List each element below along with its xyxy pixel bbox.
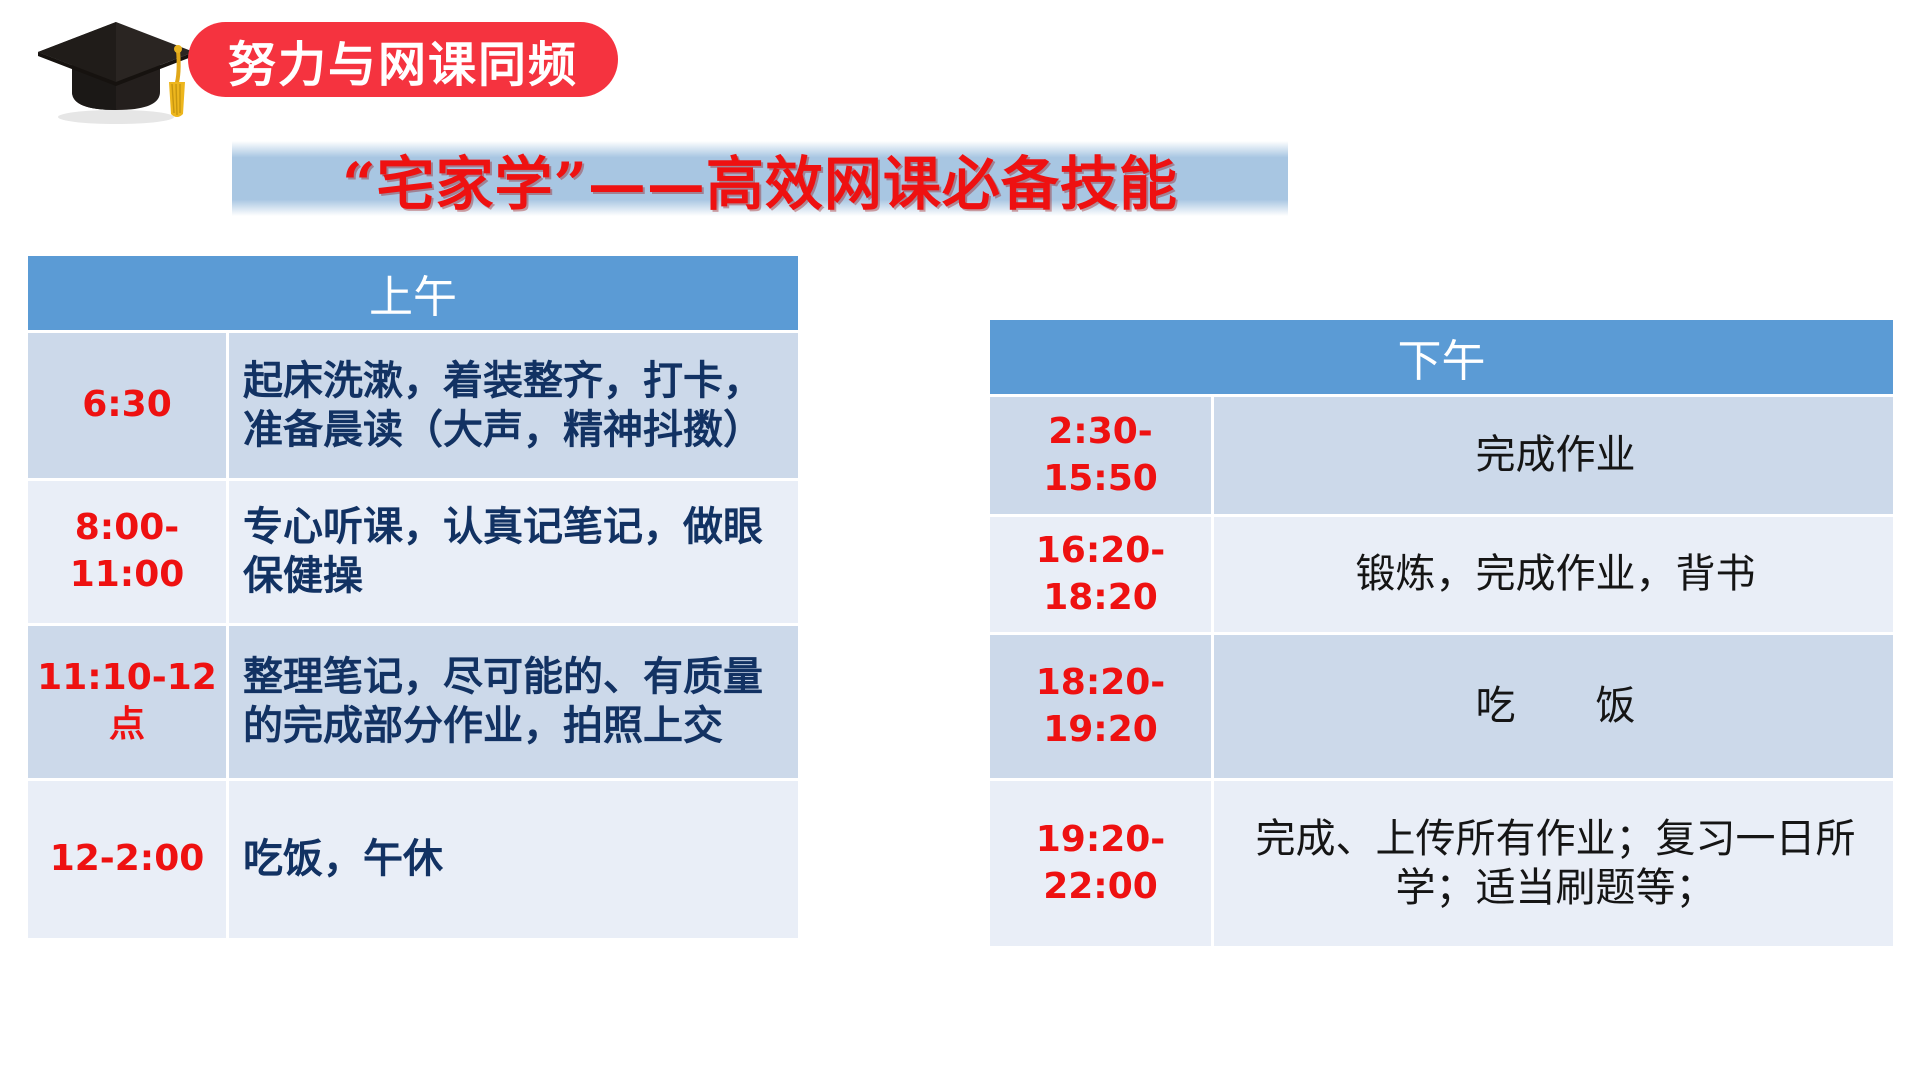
morning-header-label: 上午: [28, 256, 798, 333]
morning-schedule-table: 上午 6:30 起床洗漱，着装整齐，打卡，准备晨读（大声，精神抖擞） 8:00-…: [28, 256, 798, 941]
afternoon-header-label: 下午: [990, 320, 1893, 397]
task-cell: 专心听课，认真记笔记，做眼保健操: [229, 481, 798, 626]
table-row: 2:30- 15:50 完成作业: [990, 397, 1893, 517]
time-cell: 6:30: [28, 333, 229, 481]
graduation-cap-icon: [28, 14, 208, 126]
badge-label: 努力与网课同频: [228, 25, 578, 95]
table-header-row: 下午: [990, 320, 1893, 397]
header-row: 努力与网课同频: [0, 0, 1920, 130]
time-cell: 16:20- 18:20: [990, 517, 1214, 635]
title-banner: “宅家学”——高效网课必备技能: [232, 141, 1288, 216]
time-cell: 12-2:00: [28, 781, 229, 941]
time-cell: 8:00- 11:00: [28, 481, 229, 626]
task-cell: 吃饭，午休: [229, 781, 798, 941]
table-row: 19:20- 22:00 完成、上传所有作业；复习一日所学；适当刷题等；: [990, 781, 1893, 949]
task-cell: 锻炼，完成作业，背书: [1214, 517, 1893, 635]
table-row: 11:10-12 点 整理笔记，尽可能的、有质量的完成部分作业，拍照上交: [28, 626, 798, 781]
table-row: 16:20- 18:20 锻炼，完成作业，背书: [990, 517, 1893, 635]
afternoon-schedule-table: 下午 2:30- 15:50 完成作业 16:20- 18:20 锻炼，完成作业…: [990, 320, 1893, 949]
status-badge: 努力与网课同频: [188, 22, 618, 97]
task-cell: 起床洗漱，着装整齐，打卡，准备晨读（大声，精神抖擞）: [229, 333, 798, 481]
table-row: 12-2:00 吃饭，午休: [28, 781, 798, 941]
time-cell: 11:10-12 点: [28, 626, 229, 781]
time-cell: 19:20- 22:00: [990, 781, 1214, 949]
task-cell: 完成作业: [1214, 397, 1893, 517]
task-cell: 吃 饭: [1214, 635, 1893, 781]
time-cell: 2:30- 15:50: [990, 397, 1214, 517]
table-row: 18:20- 19:20 吃 饭: [990, 635, 1893, 781]
table-header-row: 上午: [28, 256, 798, 333]
task-cell: 整理笔记，尽可能的、有质量的完成部分作业，拍照上交: [229, 626, 798, 781]
table-row: 8:00- 11:00 专心听课，认真记笔记，做眼保健操: [28, 481, 798, 626]
table-row: 6:30 起床洗漱，着装整齐，打卡，准备晨读（大声，精神抖擞）: [28, 333, 798, 481]
time-cell: 18:20- 19:20: [990, 635, 1214, 781]
page-title: “宅家学”——高效网课必备技能: [342, 137, 1178, 221]
task-cell: 完成、上传所有作业；复习一日所学；适当刷题等；: [1214, 781, 1893, 949]
